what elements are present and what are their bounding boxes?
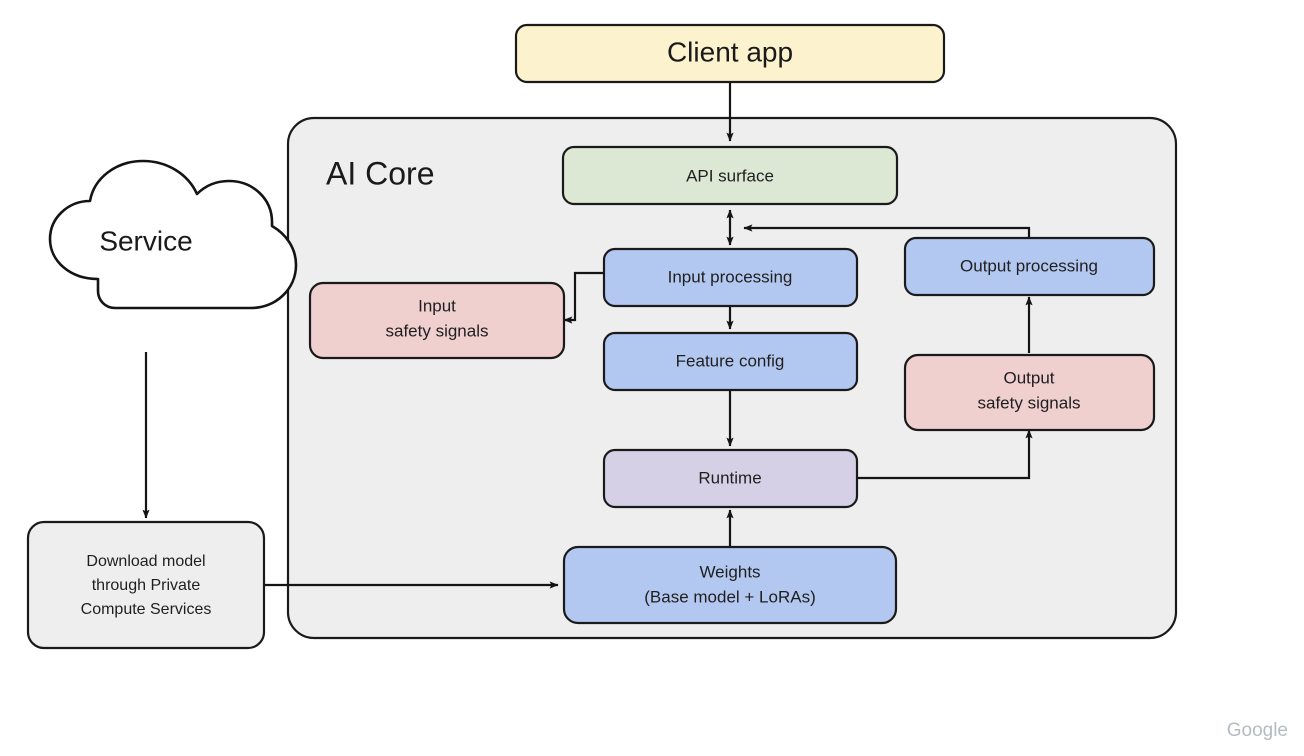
download-model-label-line2: through Private [92,577,201,594]
node-feature-config[interactable]: Feature config [604,333,857,390]
node-service-cloud[interactable]: Service [50,161,296,308]
architecture-diagram: AI Core [0,0,1304,756]
node-output-processing[interactable]: Output processing [905,238,1154,295]
input-safety-signals-label-line1: Input [418,296,456,315]
input-processing-label: Input processing [668,267,793,286]
service-cloud-label: Service [99,225,192,256]
download-model-label-line3: Compute Services [81,601,212,618]
node-download-model[interactable]: Download model through Private Compute S… [28,522,264,648]
node-output-safety-signals[interactable]: Output safety signals [905,355,1154,430]
output-safety-signals-label-line2: safety signals [978,393,1081,412]
weights-box[interactable] [564,547,896,623]
node-weights[interactable]: Weights (Base model + LoRAs) [564,547,896,623]
download-model-label-line1: Download model [86,553,205,570]
node-input-safety-signals[interactable]: Input safety signals [310,283,564,358]
runtime-label: Runtime [698,468,761,487]
node-input-processing[interactable]: Input processing [604,249,857,306]
node-client-app[interactable]: Client app [516,25,944,82]
feature-config-label: Feature config [676,351,785,370]
node-api-surface[interactable]: API surface [563,147,897,204]
ai-core-title: AI Core [326,155,434,191]
api-surface-label: API surface [686,166,774,185]
google-watermark: Google [1227,720,1288,741]
client-app-label: Client app [667,36,793,67]
weights-label-line2: (Base model + LoRAs) [644,587,816,606]
output-safety-signals-label-line1: Output [1003,368,1054,387]
node-runtime[interactable]: Runtime [604,450,857,507]
weights-label-line1: Weights [699,562,760,581]
output-processing-label: Output processing [960,256,1098,275]
diagram-canvas: AI Core [0,0,1304,756]
input-safety-signals-label-line2: safety signals [386,321,489,340]
